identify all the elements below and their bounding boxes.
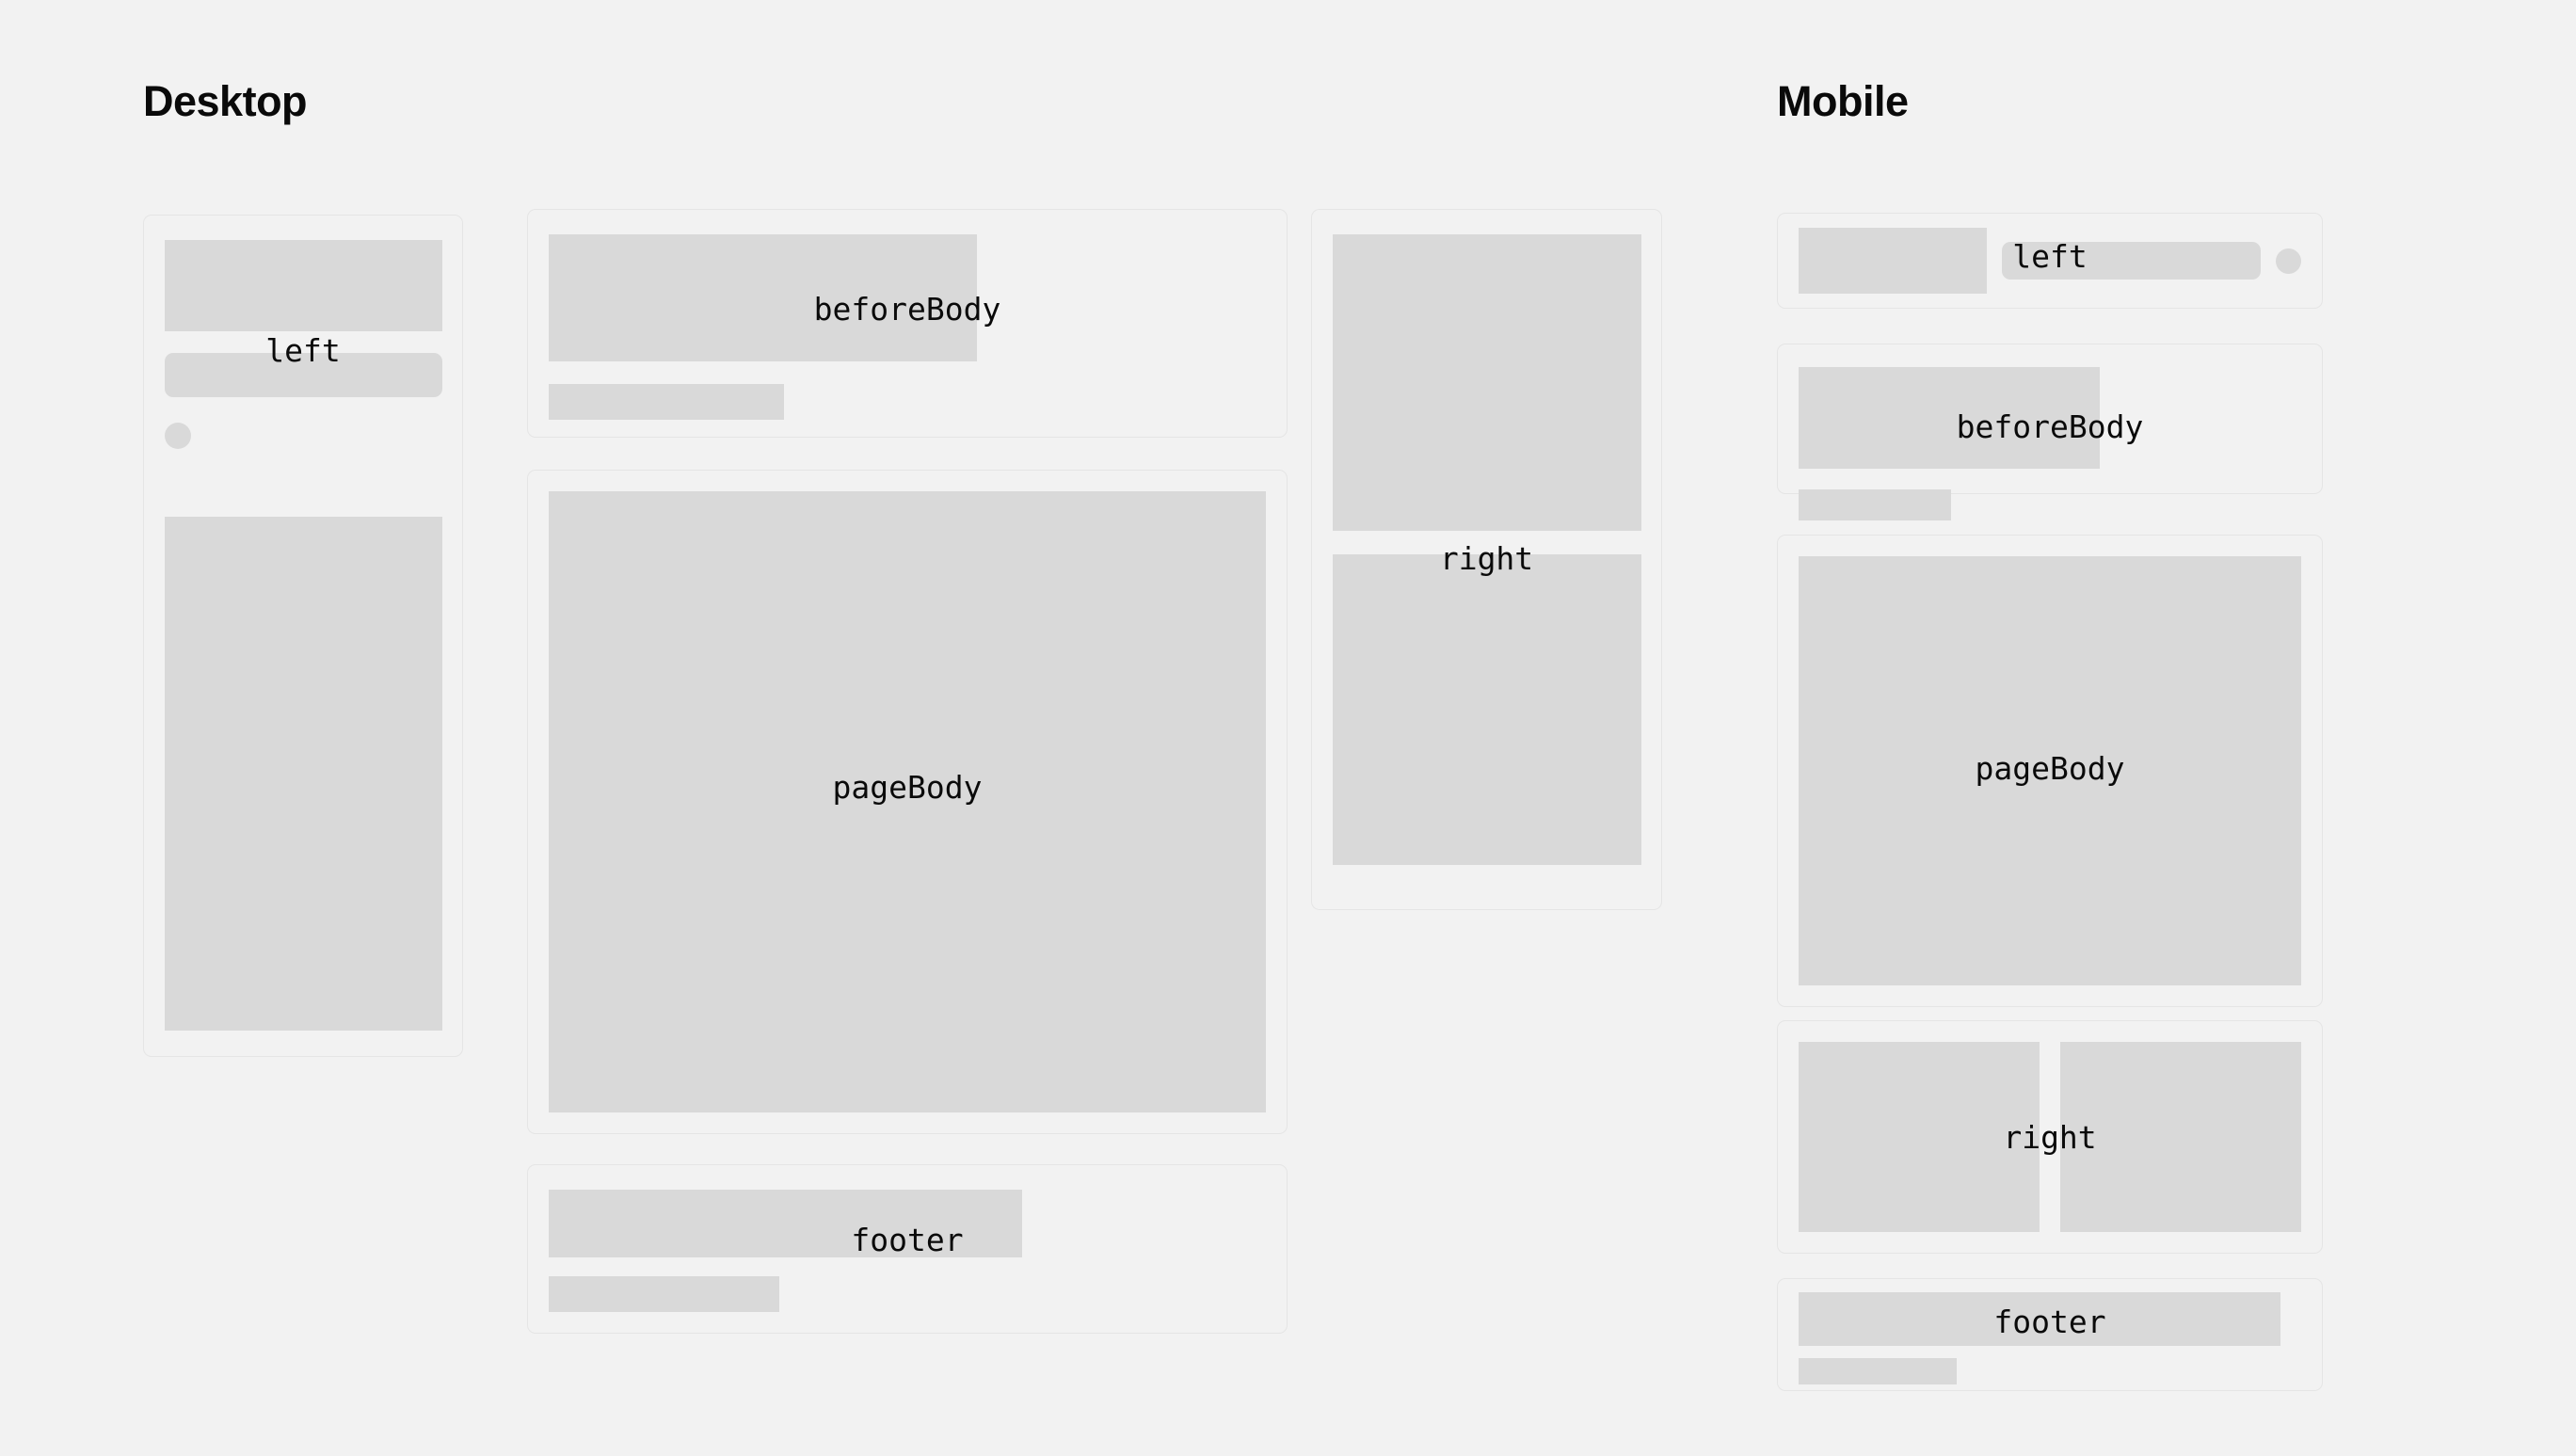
- desktop-region-right[interactable]: [1311, 209, 1662, 910]
- mobile-section-heading: Mobile: [1777, 80, 1909, 122]
- skeleton-block-primary: [549, 1190, 1022, 1257]
- skeleton-block-secondary: [549, 384, 784, 420]
- skeleton-block-widget-left: [1799, 1042, 2040, 1232]
- desktop-section-heading: Desktop: [143, 80, 307, 122]
- mobile-region-pagebody[interactable]: [1777, 535, 2323, 1007]
- skeleton-block-subheader: [165, 353, 442, 397]
- mobile-region-footer[interactable]: [1777, 1278, 2323, 1391]
- skeleton-block-primary: [1799, 1292, 2280, 1346]
- desktop-region-left[interactable]: [143, 215, 463, 1057]
- mobile-left-row: [1799, 214, 2301, 308]
- skeleton-block-primary: [549, 234, 977, 361]
- skeleton-avatar-circle: [165, 423, 191, 449]
- skeleton-block-widget-right: [2060, 1042, 2301, 1232]
- mobile-region-beforebody[interactable]: [1777, 344, 2323, 494]
- skeleton-block-header: [165, 240, 442, 331]
- mobile-region-left[interactable]: [1777, 213, 2323, 309]
- skeleton-block-primary: [1799, 367, 2100, 469]
- skeleton-block-nav: [165, 517, 442, 1031]
- skeleton-block-widget-top: [1333, 234, 1641, 531]
- desktop-region-footer[interactable]: [527, 1164, 1288, 1334]
- skeleton-avatar-circle: [2276, 248, 2301, 274]
- skeleton-block-secondary: [1799, 489, 1951, 520]
- desktop-region-beforebody[interactable]: [527, 209, 1288, 438]
- skeleton-block-content: [549, 491, 1266, 1112]
- skeleton-block-header: [1799, 228, 1987, 294]
- skeleton-block-secondary: [549, 1276, 779, 1312]
- mobile-right-row: [1799, 1042, 2301, 1232]
- skeleton-block-subheader: [2002, 242, 2261, 280]
- skeleton-block-secondary: [1799, 1358, 1957, 1384]
- skeleton-block-content: [1799, 556, 2301, 985]
- skeleton-block-widget-bottom: [1333, 554, 1641, 865]
- mobile-region-right[interactable]: [1777, 1020, 2323, 1254]
- desktop-region-pagebody[interactable]: [527, 470, 1288, 1134]
